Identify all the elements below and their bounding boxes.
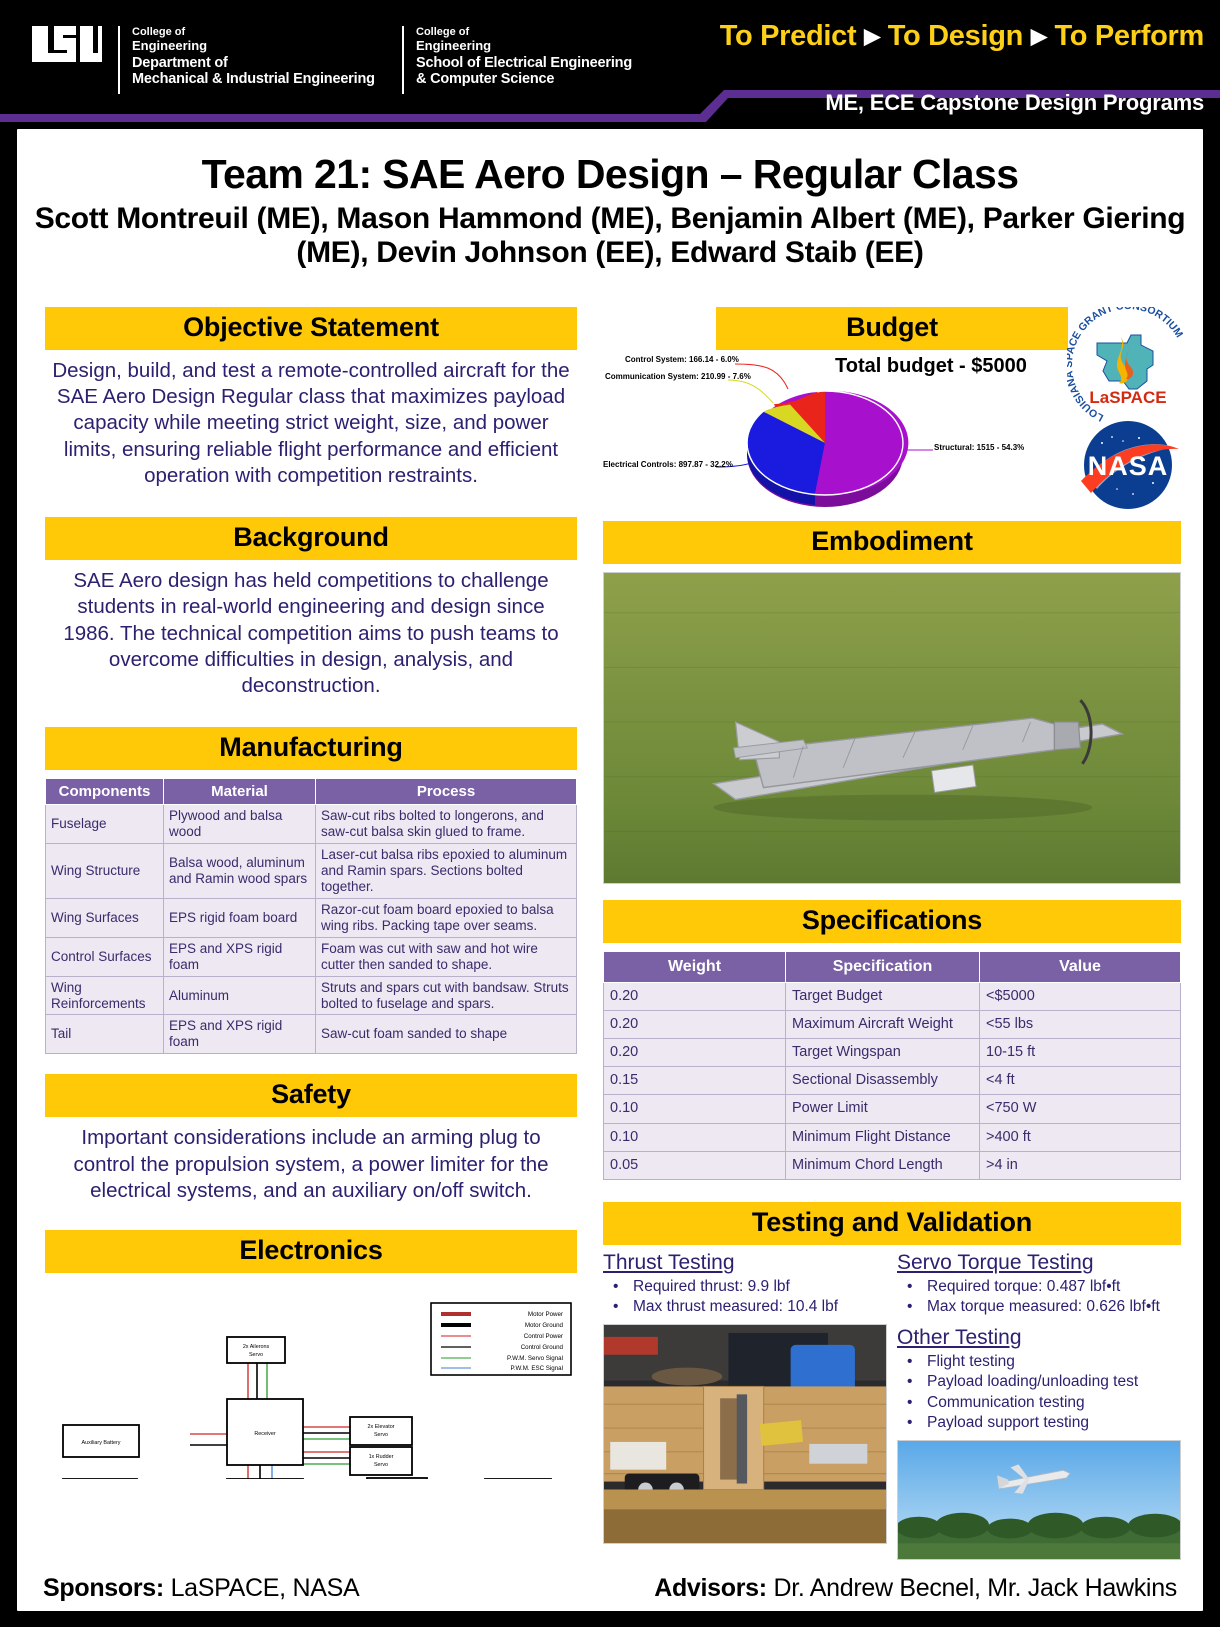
embodiment-heading: Embodiment <box>603 521 1181 564</box>
specifications-table: Weight Specification Value 0.20 Target B… <box>603 951 1181 1180</box>
objective-text: Design, build, and test a remote-control… <box>45 350 577 495</box>
advisors: Advisors: Dr. Andrew Becnel, Mr. Jack Ha… <box>654 1574 1177 1603</box>
page-header: College of Engineering Department of Mec… <box>0 0 1220 122</box>
spec-weight: 0.20 <box>604 983 786 1011</box>
table-row: Fuselage Plywood and balsa wood Saw-cut … <box>46 805 577 844</box>
table-header-row: Weight Specification Value <box>604 952 1181 983</box>
mfg-component: Wing Surfaces <box>46 898 164 937</box>
objective-heading: Objective Statement <box>45 307 577 350</box>
mfg-material: EPS and XPS rigid foam <box>164 937 316 976</box>
svg-text:Motor Power: Motor Power <box>528 1311 563 1318</box>
mfg-process: Struts and spars cut with bandsaw. Strut… <box>316 976 577 1015</box>
table-row: 0.15 Sectional Disassembly <4 ft <box>604 1067 1181 1095</box>
budget-section: Budget Total budget - $5000 <box>603 307 1181 515</box>
dept2-school: School of Electrical Engineering <box>416 55 632 72</box>
spec-weight: 0.10 <box>604 1095 786 1123</box>
list-item: Max torque measured: 0.626 lbf•ft <box>897 1297 1181 1317</box>
spec-value: >400 ft <box>980 1123 1181 1151</box>
right-column: Budget Total budget - $5000 <box>603 307 1181 1560</box>
spec-name: Minimum Flight Distance <box>786 1123 980 1151</box>
mfg-material: EPS and XPS rigid foam <box>164 1015 316 1054</box>
background-text: SAE Aero design has held competitions to… <box>45 560 577 705</box>
box-ailerons <box>227 1337 285 1363</box>
mfg-component: Wing Structure <box>46 844 164 899</box>
tagline-design: To Design <box>888 20 1023 52</box>
other-testing-list: Flight testing Payload loading/unloading… <box>897 1352 1181 1434</box>
spec-value: <$5000 <box>980 983 1181 1011</box>
flight-test-photo <box>897 1440 1181 1560</box>
mfg-component: Control Surfaces <box>46 937 164 976</box>
svg-text:2x Elevator: 2x Elevator <box>368 1424 395 1430</box>
sponsors: Sponsors: LaSPACE, NASA <box>43 1574 359 1603</box>
spec-value: <4 ft <box>980 1067 1181 1095</box>
specifications-heading: Specifications <box>603 900 1181 943</box>
table-row: Tail EPS and XPS rigid foam Saw-cut foam… <box>46 1015 577 1054</box>
budget-heading: Budget <box>716 307 1068 350</box>
servo-testing-list: Required torque: 0.487 lbf•ft Max torque… <box>897 1277 1181 1318</box>
electronics-diagram: 2x AileronsServo Auxiliary Battery Recei… <box>45 1279 577 1479</box>
spec-value: 10-15 ft <box>980 1039 1181 1067</box>
triangle-icon: ▶ <box>864 25 880 48</box>
mfg-material: EPS rigid foam board <box>164 898 316 937</box>
testing-columns: Thrust Testing Required thrust: 9.9 lbf … <box>603 1251 1181 1560</box>
dept1-engineering: Engineering <box>132 38 207 53</box>
spec-weight: 0.15 <box>604 1067 786 1095</box>
box-rudder <box>350 1447 412 1475</box>
sponsors-value: LaSPACE, NASA <box>171 1574 360 1602</box>
svg-text:Servo: Servo <box>374 1432 388 1438</box>
header-divider-1 <box>118 26 120 94</box>
mfg-component: Tail <box>46 1015 164 1054</box>
poster-footer: Sponsors: LaSPACE, NASA Advisors: Dr. An… <box>17 1574 1203 1603</box>
advisors-label: Advisors: <box>654 1574 767 1602</box>
manufacturing-table: Components Material Process Fuselage Ply… <box>45 778 577 1054</box>
table-row: 0.20 Target Budget <$5000 <box>604 983 1181 1011</box>
testing-heading: Testing and Validation <box>603 1202 1181 1245</box>
triangle-icon: ▶ <box>1031 25 1047 48</box>
svg-text:Control Power: Control Power <box>524 1333 563 1340</box>
svg-text:Servo: Servo <box>374 1462 388 1468</box>
sponsor-logos: LOUISIANA SPACE GRANT CONSORTIUM LaSPACE <box>1067 307 1189 512</box>
svg-text:Motor Ground: Motor Ground <box>525 1322 564 1329</box>
list-item: Required torque: 0.487 lbf•ft <box>897 1277 1181 1297</box>
embodiment-photo <box>603 572 1181 884</box>
dept1-name: Mechanical & Industrial Engineering <box>132 71 375 88</box>
table-row: 0.10 Power Limit <750 W <box>604 1095 1181 1123</box>
electronics-heading: Electronics <box>45 1230 577 1273</box>
table-row: Wing Structure Balsa wood, aluminum and … <box>46 844 577 899</box>
tagline: To Predict ▶ To Design ▶ To Perform <box>720 20 1204 53</box>
mfg-col-process: Process <box>316 779 577 805</box>
list-item: Required thrust: 9.9 lbf <box>603 1277 887 1297</box>
svg-text:NASA: NASA <box>1088 451 1169 481</box>
table-row: Control Surfaces EPS and XPS rigid foam … <box>46 937 577 976</box>
svg-text:Control Ground: Control Ground <box>521 1344 564 1351</box>
capstone-program-label: ME, ECE Capstone Design Programs <box>825 90 1204 116</box>
svg-text:2x Ailerons: 2x Ailerons <box>243 1344 270 1350</box>
spec-weight: 0.05 <box>604 1151 786 1179</box>
spec-name: Target Budget <box>786 983 980 1011</box>
left-column: Objective Statement Design, build, and t… <box>45 307 577 1479</box>
table-header-row: Components Material Process <box>46 779 577 805</box>
spec-weight: 0.10 <box>604 1123 786 1151</box>
tagline-perform: To Perform <box>1054 20 1204 52</box>
other-testing-title: Other Testing <box>897 1326 1181 1350</box>
spec-name: Target Wingspan <box>786 1039 980 1067</box>
mfg-material: Plywood and balsa wood <box>164 805 316 844</box>
pie-label-communication-system: Communication System: 210.99 - 7.6% <box>605 372 751 381</box>
mfg-process: Saw-cut foam sanded to shape <box>316 1015 577 1054</box>
dept2-engineering: Engineering <box>416 38 491 53</box>
laspace-logo: LOUISIANA SPACE GRANT CONSORTIUM LaSPACE <box>1067 307 1185 424</box>
spec-name: Minimum Chord Length <box>786 1151 980 1179</box>
mfg-col-material: Material <box>164 779 316 805</box>
table-row: 0.20 Target Wingspan 10-15 ft <box>604 1039 1181 1067</box>
pie-label-electrical-controls: Electrical Controls: 897.87 - 32.2% <box>603 460 733 469</box>
sponsors-label: Sponsors: <box>43 1574 164 1602</box>
servo-and-other-testing-block: Servo Torque Testing Required torque: 0.… <box>897 1251 1181 1560</box>
spec-name: Sectional Disassembly <box>786 1067 980 1095</box>
table-row: 0.20 Maximum Aircraft Weight <55 lbs <box>604 1011 1181 1039</box>
spec-weight: 0.20 <box>604 1039 786 1067</box>
author-list: Scott Montreuil (ME), Mason Hammond (ME)… <box>17 202 1203 269</box>
spec-value: <750 W <box>980 1095 1181 1123</box>
pie-label-structural: Structural: 1515 - 54.3% <box>934 443 1024 452</box>
spec-value: >4 in <box>980 1151 1181 1179</box>
svg-text:1x Rudder: 1x Rudder <box>369 1454 394 1460</box>
spec-value: <55 lbs <box>980 1011 1181 1039</box>
pie-label-control-system: Control System: 166.14 - 6.0% <box>625 355 739 364</box>
background-heading: Background <box>45 517 577 560</box>
svg-text:Auxiliary Battery: Auxiliary Battery <box>82 1440 121 1446</box>
mfg-col-components: Components <box>46 779 164 805</box>
safety-heading: Safety <box>45 1074 577 1117</box>
svg-text:Receiver: Receiver <box>254 1431 275 1437</box>
page-title: Team 21: SAE Aero Design – Regular Class <box>17 151 1203 198</box>
spec-col-value: Value <box>980 952 1181 983</box>
mfg-component: Wing Reinforcements <box>46 976 164 1015</box>
svg-text:Servo: Servo <box>249 1352 263 1358</box>
mfg-process: Foam was cut with saw and hot wire cutte… <box>316 937 577 976</box>
mfg-component: Fuselage <box>46 805 164 844</box>
list-item: Payload support testing <box>897 1413 1181 1433</box>
nasa-logo: NASA <box>1081 421 1179 509</box>
thrust-test-photo <box>603 1324 887 1544</box>
table-row: Wing Surfaces EPS rigid foam board Razor… <box>46 898 577 937</box>
spec-weight: 0.20 <box>604 1011 786 1039</box>
svg-text:P.W.M. ESC Signal: P.W.M. ESC Signal <box>511 1365 564 1372</box>
dept2-name: & Computer Science <box>416 71 554 88</box>
spec-col-weight: Weight <box>604 952 786 983</box>
mfg-material: Aluminum <box>164 976 316 1015</box>
thrust-testing-list: Required thrust: 9.9 lbf Max thrust meas… <box>603 1277 887 1318</box>
list-item: Max thrust measured: 10.4 lbf <box>603 1297 887 1317</box>
tagline-predict: To Predict <box>720 20 857 52</box>
poster-canvas: Team 21: SAE Aero Design – Regular Class… <box>14 126 1206 1614</box>
servo-testing-title: Servo Torque Testing <box>897 1251 1181 1275</box>
mfg-process: Laser-cut balsa ribs epoxied to aluminum… <box>316 844 577 899</box>
lsu-logo <box>28 22 106 66</box>
mfg-material: Balsa wood, aluminum and Ramin wood spar… <box>164 844 316 899</box>
thrust-testing-block: Thrust Testing Required thrust: 9.9 lbf … <box>603 1251 887 1560</box>
svg-text:LaSPACE: LaSPACE <box>1089 388 1166 407</box>
list-item: Flight testing <box>897 1352 1181 1372</box>
safety-text: Important considerations include an armi… <box>45 1117 577 1210</box>
table-row: 0.10 Minimum Flight Distance >400 ft <box>604 1123 1181 1151</box>
budget-pie-chart: Control System: 166.14 - 6.0% Communicat… <box>603 347 1023 517</box>
dept1-department: Department of <box>132 55 228 72</box>
table-row: Wing Reinforcements Aluminum Struts and … <box>46 976 577 1015</box>
mfg-process: Razor-cut foam board epoxied to balsa wi… <box>316 898 577 937</box>
spec-name: Power Limit <box>786 1095 980 1123</box>
thrust-testing-title: Thrust Testing <box>603 1251 887 1275</box>
spec-col-specification: Specification <box>786 952 980 983</box>
mfg-process: Saw-cut ribs bolted to longerons, and sa… <box>316 805 577 844</box>
advisors-value: Dr. Andrew Becnel, Mr. Jack Hawkins <box>773 1574 1177 1602</box>
manufacturing-heading: Manufacturing <box>45 727 577 770</box>
header-divider-2 <box>402 26 404 94</box>
table-row: 0.05 Minimum Chord Length >4 in <box>604 1151 1181 1179</box>
list-item: Communication testing <box>897 1393 1181 1413</box>
svg-text:P.W.M. Servo Signal: P.W.M. Servo Signal <box>507 1355 563 1362</box>
list-item: Payload loading/unloading test <box>897 1372 1181 1392</box>
box-elevator <box>350 1417 412 1445</box>
spec-name: Maximum Aircraft Weight <box>786 1011 980 1039</box>
